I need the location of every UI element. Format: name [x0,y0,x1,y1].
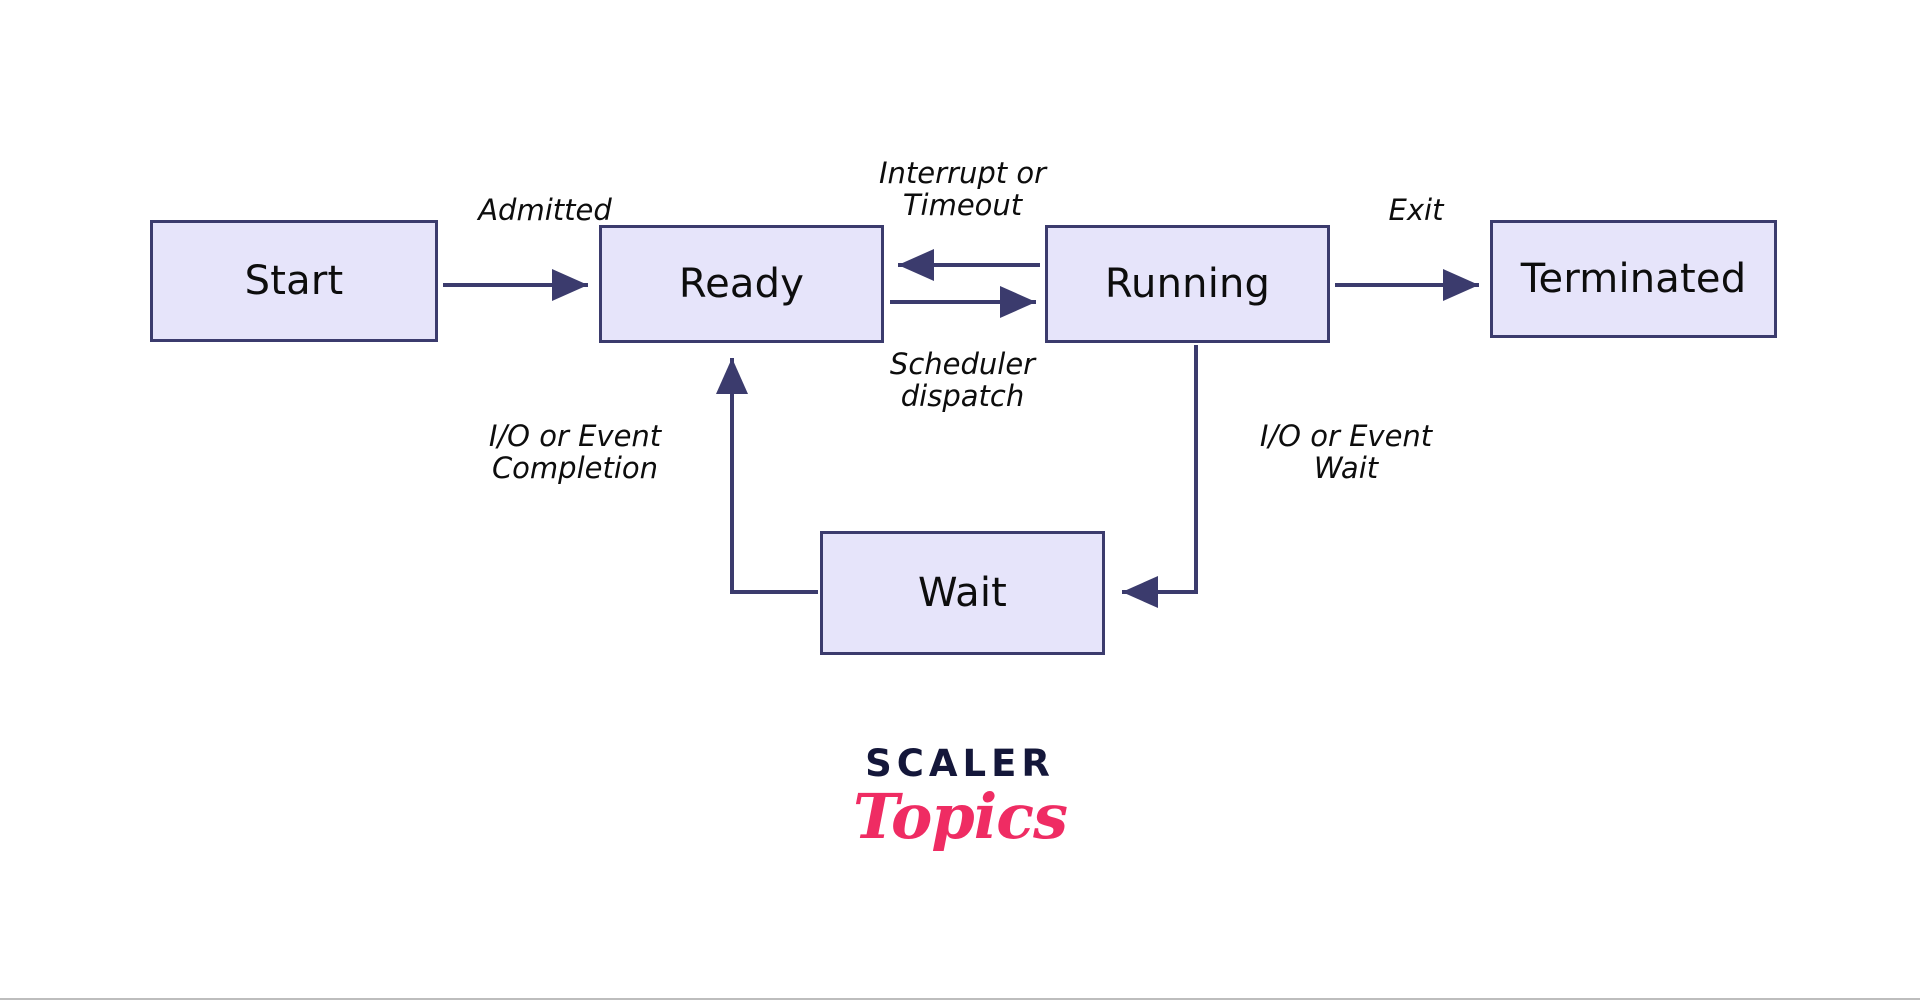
state-node-terminated[interactable]: Terminated [1490,220,1777,338]
edge-wait-to-ready [732,358,818,592]
edge-running-to-wait [1122,345,1196,592]
state-label-start: Start [245,261,344,301]
edge-label-exit: Exit [1346,194,1486,226]
state-node-running[interactable]: Running [1045,225,1330,343]
edge-label-admitted: Admitted [455,194,635,226]
edge-label-io-or-event-wait: I/O or Event Wait [1206,420,1486,485]
state-node-start[interactable]: Start [150,220,438,342]
edge-label-interrupt-or-timeout: Interrupt or Timeout [855,157,1070,222]
process-state-diagram: Start Ready Running Terminated Wait Admi… [0,0,1920,1000]
state-label-running: Running [1105,264,1270,304]
state-node-wait[interactable]: Wait [820,531,1105,655]
edge-label-scheduler-dispatch: Scheduler dispatch [855,348,1070,413]
state-node-ready[interactable]: Ready [599,225,884,343]
brand-name-scaler: SCALER [0,745,1920,782]
scaler-topics-logo: SCALER Topics [0,745,1920,849]
state-label-wait: Wait [918,573,1007,613]
edge-label-io-or-event-completion: I/O or Event Completion [430,420,720,485]
state-label-terminated: Terminated [1521,259,1747,299]
brand-name-topics: Topics [0,784,1920,849]
state-label-ready: Ready [679,264,804,304]
